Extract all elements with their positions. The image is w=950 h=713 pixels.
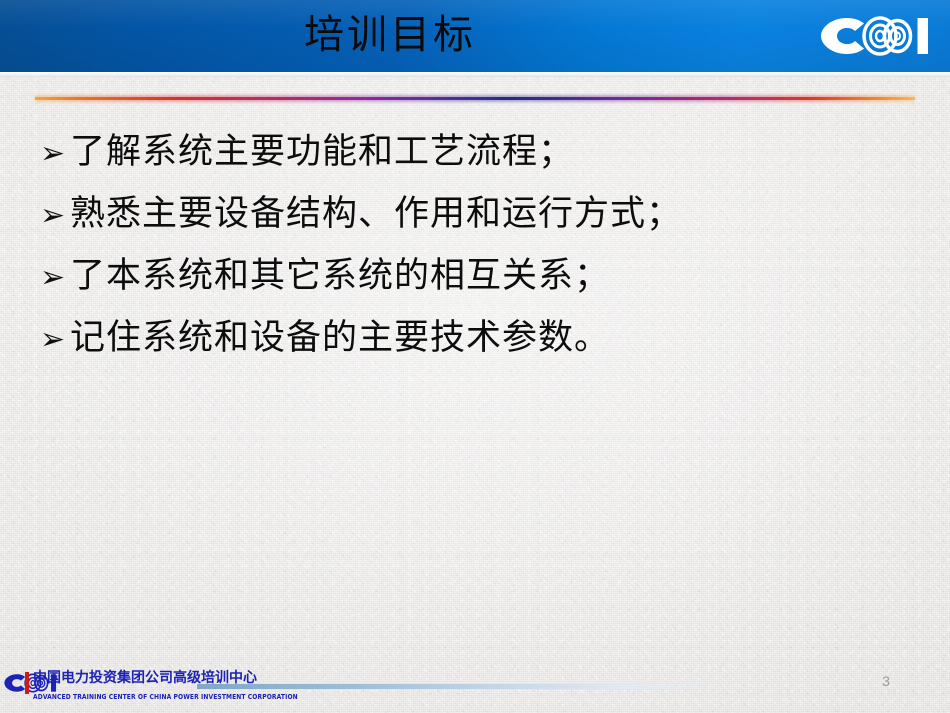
header-underbar (0, 72, 950, 77)
footer-organization-en: ADVANCED TRAINING CENTER OF CHINA POWER … (33, 693, 298, 702)
list-item: ➢ 了解系统主要功能和工艺流程； (40, 126, 920, 182)
arrow-bullet-icon: ➢ (40, 128, 70, 180)
arrow-bullet-icon: ➢ (40, 190, 70, 242)
page-title: 培训目标 (0, 4, 780, 66)
page-number: 3 (874, 672, 898, 690)
list-item: ➢ 了本系统和其它系统的相互关系； (40, 250, 920, 306)
slide-canvas: 培训目标 ➢ 了解系统主要功能和工艺流程； (0, 0, 950, 713)
accent-rule-line (35, 97, 915, 100)
accent-rule (35, 95, 915, 102)
bullet-list: ➢ 了解系统主要功能和工艺流程； ➢ 熟悉主要设备结构、作用和运行方式； ➢ 了… (40, 126, 920, 374)
bullet-text: 记住系统和设备的主要技术参数。 (70, 312, 920, 364)
slide-header: 培训目标 (0, 0, 950, 72)
cpi-logo-icon (816, 13, 932, 59)
arrow-bullet-icon: ➢ (40, 252, 70, 304)
bullet-text: 熟悉主要设备结构、作用和运行方式； (70, 188, 920, 240)
arrow-bullet-icon: ➢ (40, 314, 70, 366)
bullet-text: 了解系统主要功能和工艺流程； (70, 126, 920, 178)
list-item: ➢ 记住系统和设备的主要技术参数。 (40, 312, 920, 368)
bullet-text: 了本系统和其它系统的相互关系； (70, 250, 920, 302)
footer-accent-bar (25, 672, 29, 694)
footer-rule (197, 684, 737, 689)
list-item: ➢ 熟悉主要设备结构、作用和运行方式； (40, 188, 920, 244)
